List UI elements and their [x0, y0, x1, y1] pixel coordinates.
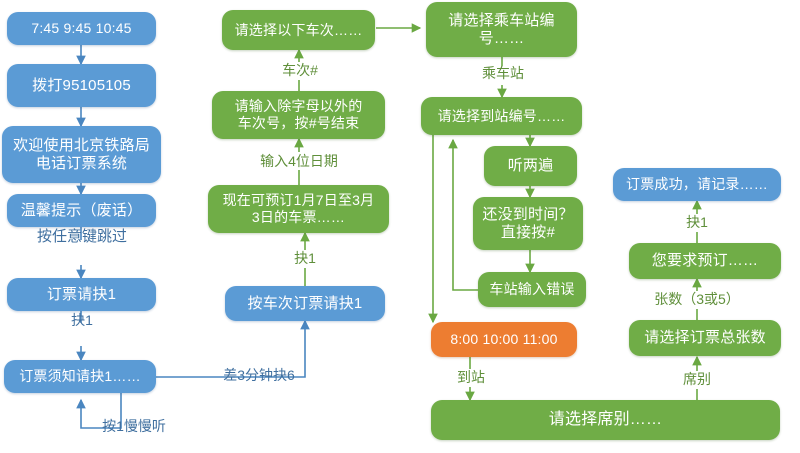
edge-label-3-min-press-6: 差3分钟抉6 — [213, 368, 305, 383]
node-station-input-error[interactable]: 车站输入错误 — [478, 272, 586, 307]
flowchart-canvas: 7:45 9:45 10:45 拨打95105105 欢迎使用北京铁路局 电话订… — [0, 0, 800, 453]
edge-label-seat-class: 席别 — [670, 372, 724, 387]
edge-label-press-1-b: 抉1 — [278, 251, 332, 266]
edge-label-press-1-c: 抉1 — [670, 215, 724, 230]
edge-label-ticket-count: 张数（3或5） — [637, 292, 757, 307]
node-choose-seat-class[interactable]: 请选择席别…… — [431, 400, 780, 440]
node-booking-success[interactable]: 订票成功，请记录…… — [613, 168, 781, 201]
node-press-1-to-book[interactable]: 订票请抉1 — [7, 278, 156, 311]
edge-label-depart-station: 乘车站 — [469, 66, 537, 81]
edge-label-press-1-listen: 按1慢慢听 — [89, 419, 179, 434]
node-arrive-times[interactable]: 8:00 10:00 11:00 — [431, 322, 577, 357]
node-your-reservation[interactable]: 您要求预订…… — [629, 243, 781, 279]
edge-label-press-1-a: 抉1 — [55, 313, 109, 328]
node-choose-arrive-station[interactable]: 请选择到站编号…… — [421, 97, 582, 135]
edge-label-train-hash: 车次# — [268, 63, 332, 78]
node-booking-notice[interactable]: 订票须知请抉1…… — [4, 360, 156, 393]
node-call-times[interactable]: 7:45 9:45 10:45 — [7, 12, 156, 45]
edge-label-arrive-station: 到站 — [444, 370, 498, 385]
node-booking-window[interactable]: 现在可预订1月7日至3月 3日的车票…… — [208, 185, 389, 233]
node-book-by-train-press1[interactable]: 按车次订票请抉1 — [225, 286, 385, 321]
node-welcome-message[interactable]: 欢迎使用北京铁路局 电话订票系统 — [2, 126, 161, 183]
node-dial-number[interactable]: 拨打95105105 — [7, 64, 156, 107]
node-not-yet-time[interactable]: 还没到时间？ 直接按# — [473, 197, 583, 250]
node-choose-depart-station[interactable]: 请选择乘车站编 号…… — [426, 2, 577, 57]
node-choose-ticket-count[interactable]: 请选择订票总张数 — [629, 320, 781, 356]
node-input-train-number[interactable]: 请输入除字母以外的 车次号，按#号结束 — [212, 91, 385, 139]
edge-label-press-any-key: 按任意键跳过 — [18, 229, 146, 246]
node-warm-tips[interactable]: 温馨提示（废话） — [7, 194, 156, 227]
node-choose-train[interactable]: 请选择以下车次…… — [222, 10, 375, 50]
node-listen-twice[interactable]: 听两遍 — [484, 146, 577, 186]
edge-label-input-4-digit-date: 输入4位日期 — [239, 154, 359, 169]
